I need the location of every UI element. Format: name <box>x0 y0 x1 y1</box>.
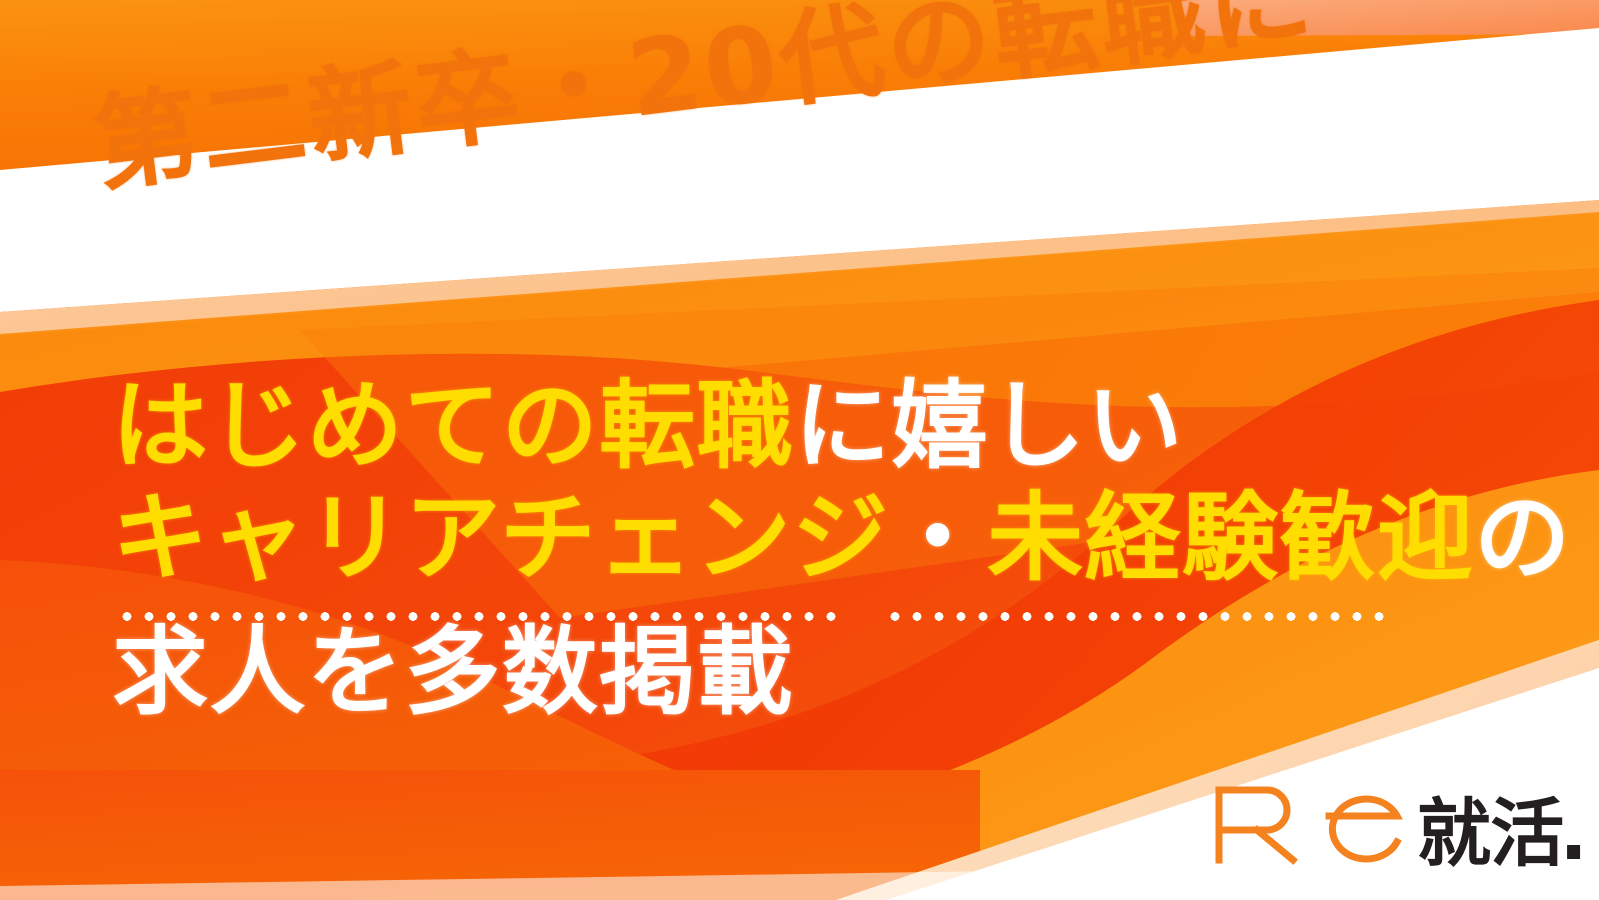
copy-line-2-highlight-b: 未経験歓迎 <box>987 482 1474 594</box>
copy-line-2-rest: の <box>1474 482 1571 594</box>
logo-wordmark: 就活 <box>1417 800 1564 868</box>
logo-trailing-dot: . <box>1560 800 1588 868</box>
copy-line-2: キャリアチェンジ・未経験歓迎の <box>112 490 1532 588</box>
main-copy-block: はじめての転職に嬉しい キャリアチェンジ・未経験歓迎の 求人を多数掲載 <box>112 378 1532 722</box>
dotted-underline-left <box>116 612 842 621</box>
copy-line-1-highlight: はじめての転職 <box>112 370 794 482</box>
re-shukatsu-logo[interactable]: 就活 . <box>1211 780 1588 866</box>
copy-line-3: 求人を多数掲載 <box>112 624 1532 722</box>
copy-line-1: はじめての転職に嬉しい <box>112 378 1532 476</box>
copy-line-2-highlight-a: キャリアチェンジ <box>112 482 890 594</box>
copy-line-2-separator: ・ <box>890 482 987 594</box>
dotted-underline-right <box>884 612 1392 621</box>
copy-line-1-rest: に嬉しい <box>794 370 1184 482</box>
re-logomark-icon <box>1211 780 1411 866</box>
promo-banner[interactable]: 第二新卒・20代の転職に はじめての転職に嬉しい キャリアチェンジ・未経験歓迎の… <box>0 0 1599 900</box>
